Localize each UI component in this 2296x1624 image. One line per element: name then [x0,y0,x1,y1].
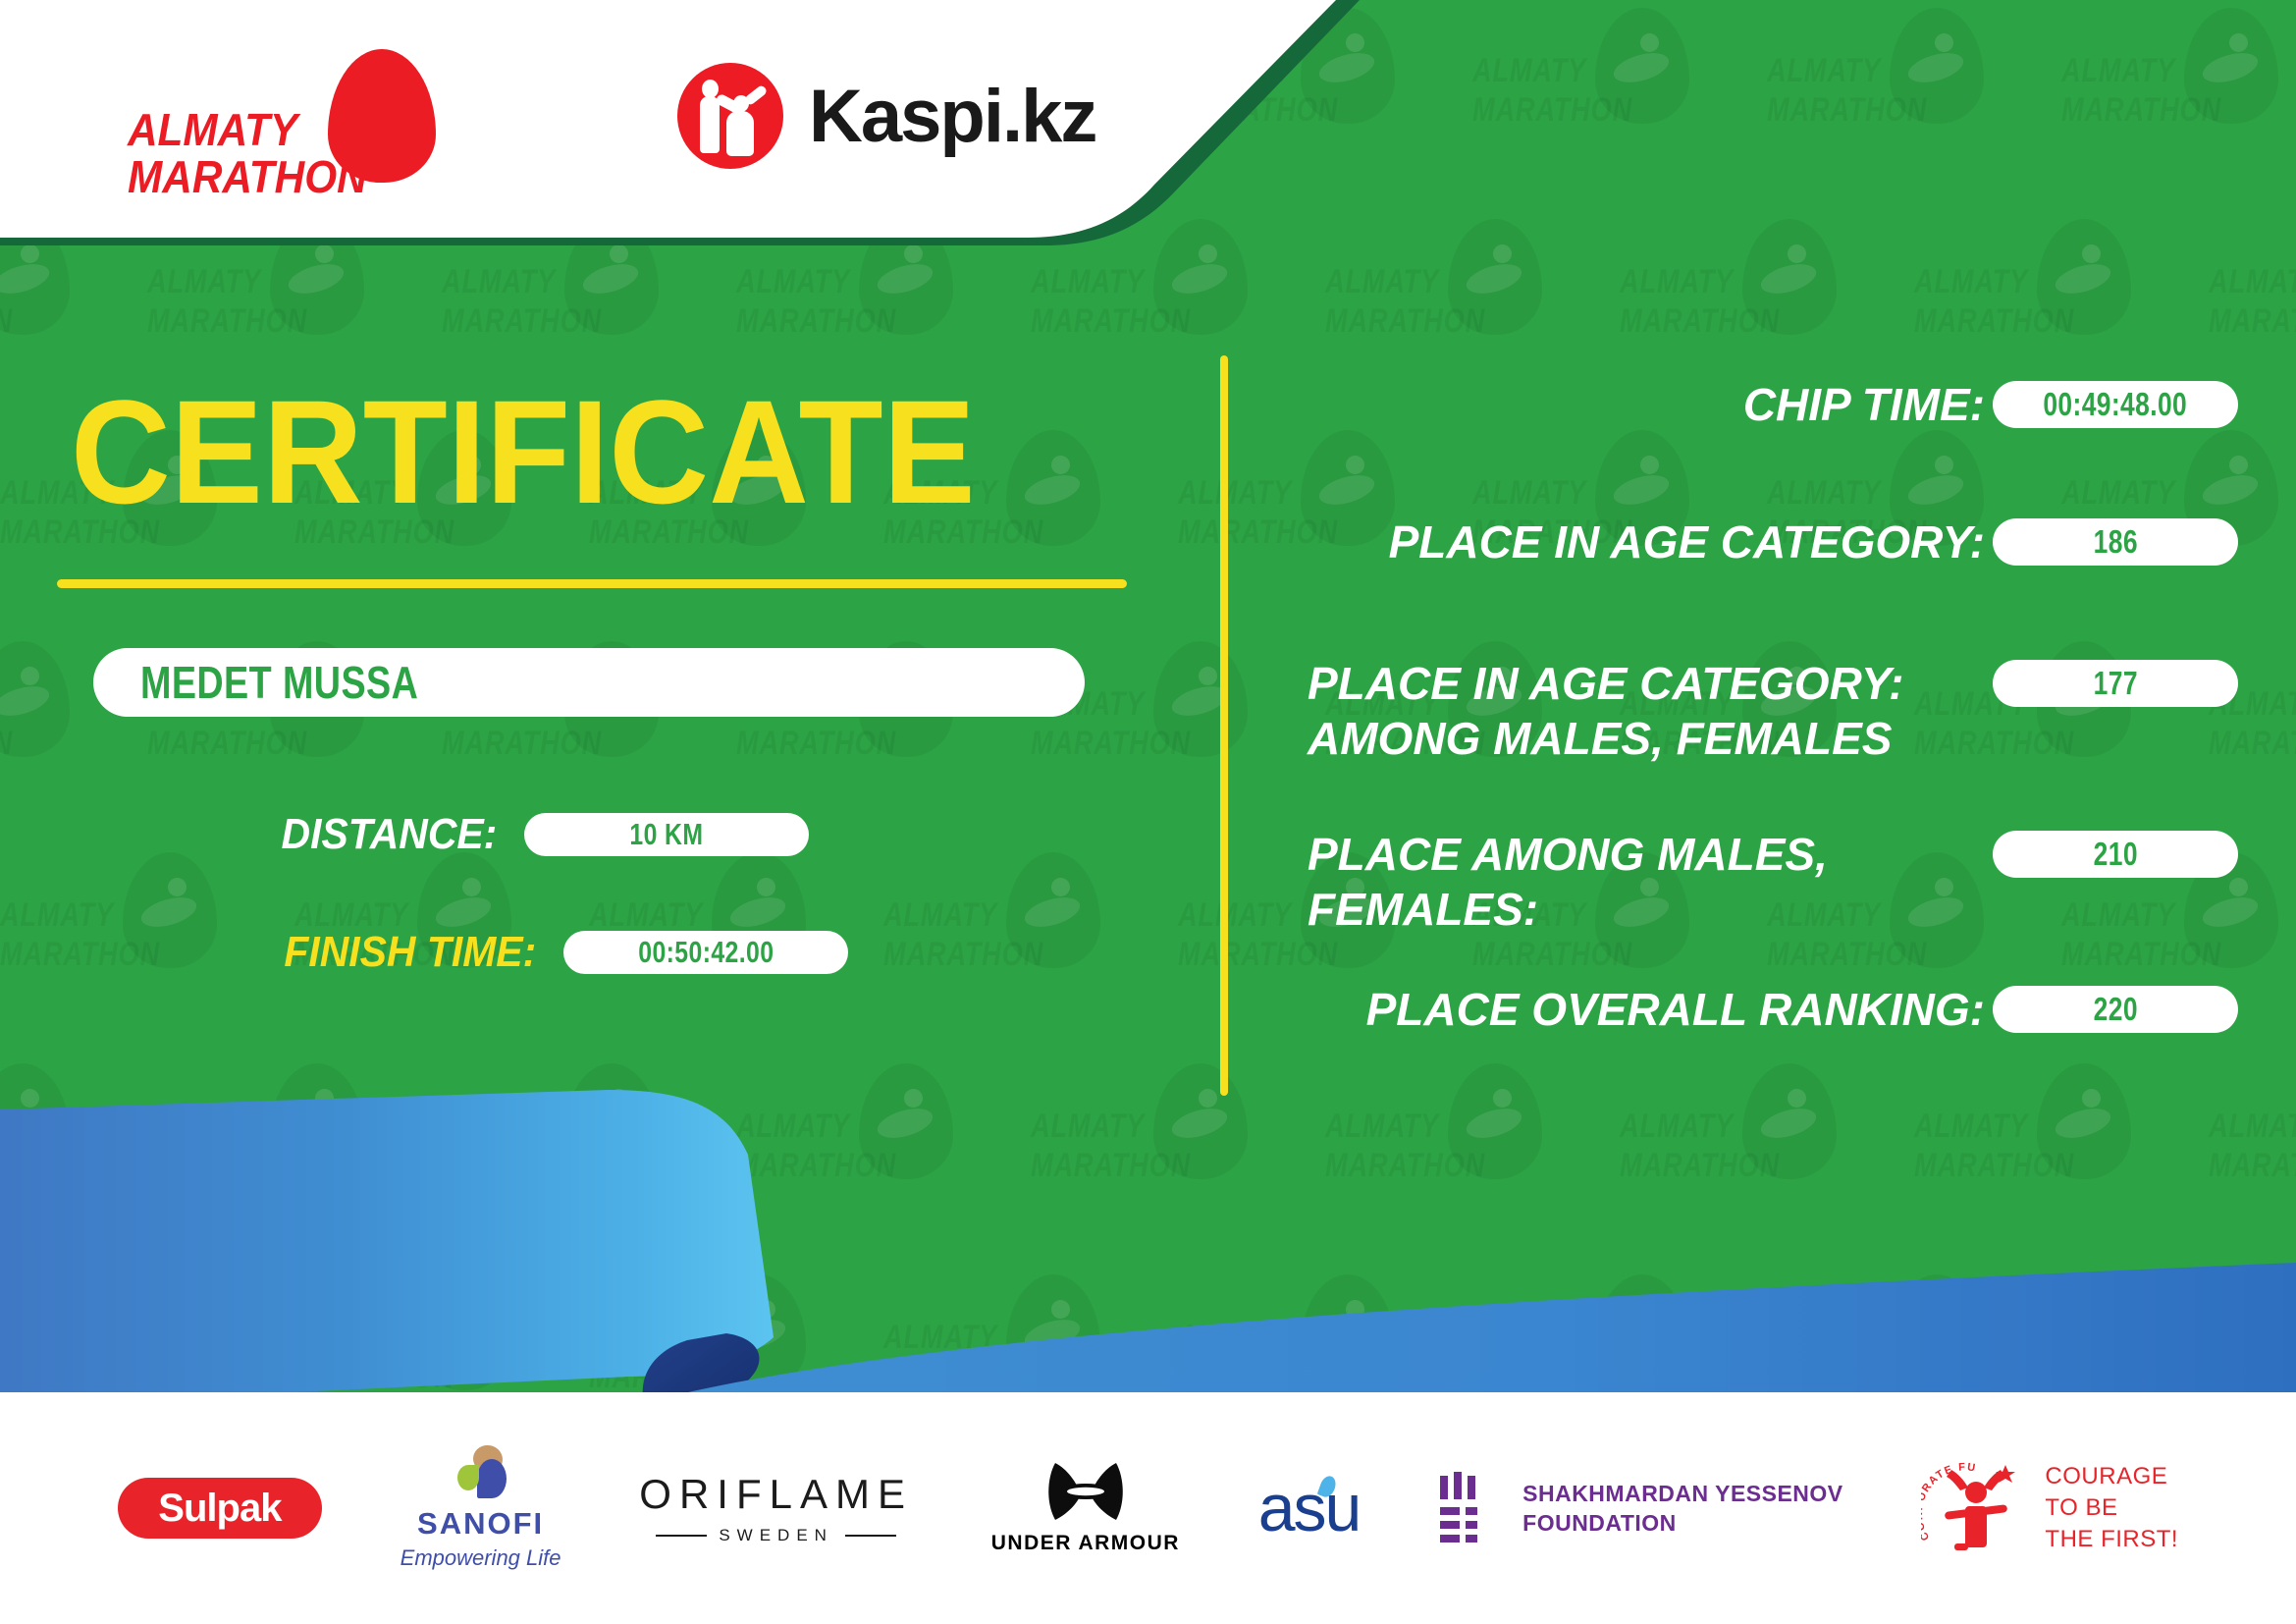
sponsor-logo-asu: asu [1258,1470,1361,1546]
stat-value-pill: 186 [1993,518,2238,566]
stat-label: PLACE IN AGE CATEGORY: AMONG MALES, FEMA… [1256,656,1993,766]
stat-value-pill: 210 [1993,831,2238,878]
courage-slogan: COURAGE TO BE THE FIRST! [2045,1461,2178,1555]
participant-name: MEDET MUSSA [140,656,418,709]
sponsor-logo-sanofi: SANOFI Empowering Life [400,1445,561,1571]
oriflame-rule-left [656,1535,707,1537]
stat-value: 177 [2093,665,2137,702]
stat-value: 210 [2093,836,2137,873]
finish-time-value-pill: 00:50:42.00 [563,931,848,974]
sponsor-logo-sulpak: Sulpak [118,1478,322,1539]
stat-value-pill: 00:49:48.00 [1993,381,2238,428]
sponsor-logo-yessenov-foundation: SHAKHMARDAN YESSENOV FOUNDATION [1438,1472,1843,1544]
stat-value: 186 [2093,523,2137,561]
certificate-header: ALMATYMARATHON Kaspi.kz [0,0,1360,245]
yessenov-wordmark: SHAKHMARDAN YESSENOV FOUNDATION [1522,1479,1843,1538]
stat-row-place-age-category-among: PLACE IN AGE CATEGORY: AMONG MALES, FEMA… [1256,656,2238,766]
finish-time-value: 00:50:42.00 [638,935,774,970]
stat-value-pill: 220 [1993,986,2238,1033]
stat-label: PLACE AMONG MALES, FEMALES: [1256,827,1993,937]
stat-value-pill: 177 [1993,660,2238,707]
oriflame-rule-right [845,1535,896,1537]
distance-value-pill: 10 KM [524,813,809,856]
title-underline [57,579,1127,588]
stat-row-place-age-category: PLACE IN AGE CATEGORY: 186 [1256,514,2238,569]
stat-row-chip-time: CHIP TIME: 00:49:48.00 [1256,377,2238,432]
sponsor-logo-courage-to-be-the-first: CORPORATE FUND COURAGE TO BE THE FIRST! [1921,1457,2178,1559]
finish-time-label: FINISH TIME: [284,928,536,977]
participant-name-field: MEDET MUSSA [93,648,1085,717]
stat-value: 00:49:48.00 [2044,386,2188,423]
kaspi-logo: Kaspi.kz [677,63,1095,169]
asu-wordmark: asu [1258,1471,1361,1545]
sponsor-logo-oriflame: ORIFLAME SWEDEN [639,1471,913,1545]
column-divider [1220,355,1228,1096]
sanofi-wordmark: SANOFI [417,1506,544,1542]
almaty-marathon-wordmark: ALMATYMARATHON [128,106,367,200]
sanofi-bird-icon [450,1445,512,1502]
distance-row: DISTANCE: 10 KM [265,810,809,859]
almaty-line2: MARATHON [128,151,367,202]
distance-value: 10 KM [630,817,704,852]
under-armour-icon [1028,1461,1144,1524]
certificate-right-column: CHIP TIME: 00:49:48.00 PLACE IN AGE CATE… [1256,0,2296,1392]
almaty-line1: ALMATY [128,104,297,155]
finish-time-row: FINISH TIME: 00:50:42.00 [265,928,848,977]
stat-row-place-among-males-females: PLACE AMONG MALES, FEMALES: 210 [1256,827,2238,937]
almaty-marathon-logo: ALMATYMARATHON [128,49,452,187]
sponsor-bar: Sulpak SANOFI Empowering Life ORIFLAME S… [0,1392,2296,1624]
oriflame-subtitle: SWEDEN [719,1526,833,1545]
stat-label: CHIP TIME: [1256,377,1993,432]
certificate: ALMATY MARATHONALMATY MARATHONALMATY MAR… [0,0,2296,1624]
yessenov-mark-icon [1438,1472,1497,1544]
kaspi-wordmark: Kaspi.kz [809,74,1095,159]
stat-label: PLACE OVERALL RANKING: [1256,982,1993,1037]
under-armour-wordmark: UNDER ARMOUR [991,1532,1180,1555]
oriflame-wordmark: ORIFLAME [639,1471,913,1518]
sulpak-wordmark: Sulpak [158,1487,281,1531]
stat-row-place-overall-ranking: PLACE OVERALL RANKING: 220 [1256,982,2238,1037]
oriflame-subtitle-row: SWEDEN [656,1526,896,1545]
asu-wordmark-wrap: asu [1258,1470,1361,1546]
distance-label: DISTANCE: [282,810,498,859]
page-title: CERTIFICATE [71,378,976,525]
stat-label: PLACE IN AGE CATEGORY: [1256,514,1993,569]
courage-runner-icon: CORPORATE FUND [1921,1457,2027,1559]
stat-value: 220 [2093,991,2137,1028]
kaspi-family-icon [677,63,783,169]
sponsor-logo-under-armour: UNDER ARMOUR [991,1461,1180,1555]
sanofi-tagline: Empowering Life [400,1545,561,1571]
